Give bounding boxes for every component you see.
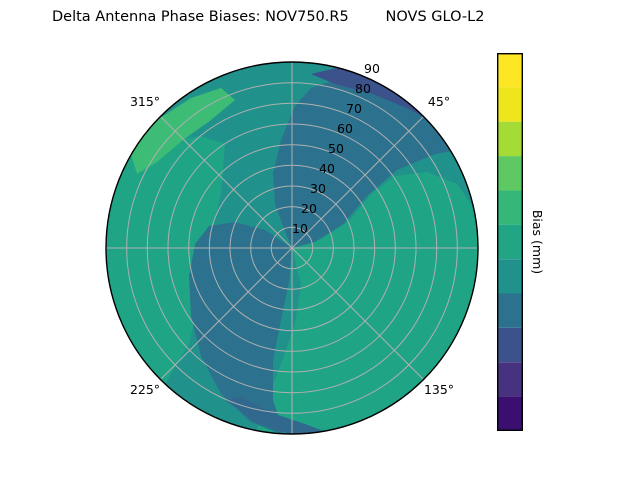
radial-label-70: 70	[346, 101, 362, 116]
colorbar-band-5	[497, 225, 523, 259]
page-title: Delta Antenna Phase Biases: NOV750.R5 NO…	[52, 9, 484, 25]
radial-label-50: 50	[328, 141, 344, 156]
colorbar-band-4	[497, 259, 523, 293]
colorbar-svg: 4 2 0 −2 −4	[497, 53, 523, 431]
colorbar-band-0	[497, 397, 523, 431]
radial-label-30: 30	[310, 181, 326, 196]
radial-label-10: 10	[292, 221, 308, 236]
colorbar[interactable]: 4 2 0 −2 −4	[497, 53, 523, 431]
colorbar-axis-label: Bias (mm)	[525, 53, 551, 431]
colorbar-band-10	[497, 53, 523, 87]
angular-label-315: 315°	[130, 94, 160, 109]
matplotlib-figure: Delta Antenna Phase Biases: NOV750.R5 NO…	[0, 0, 640, 480]
radial-label-90: 90	[364, 61, 380, 76]
radial-label-40: 40	[319, 161, 335, 176]
polar-contour-axes[interactable]: 0° 45° 90° 135° 180° 225° 270° 315° 10 2…	[105, 44, 479, 436]
radial-label-80: 80	[355, 81, 371, 96]
angular-label-135: 135°	[424, 382, 454, 397]
radial-label-20: 20	[301, 201, 317, 216]
colorbar-band-7	[497, 156, 523, 190]
polar-plot-svg: 0° 45° 90° 135° 180° 225° 270° 315° 10 2…	[105, 44, 479, 436]
colorbar-band-3	[497, 294, 523, 328]
radial-label-60: 60	[337, 121, 353, 136]
angular-gridlines	[106, 62, 478, 434]
colorbar-band-9	[497, 87, 523, 121]
colorbar-band-8	[497, 122, 523, 156]
angular-label-225: 225°	[130, 382, 160, 397]
colorbar-band-2	[497, 328, 523, 362]
colorbar-bands	[497, 53, 523, 431]
colorbar-band-6	[497, 191, 523, 225]
colorbar-band-1	[497, 362, 523, 396]
angular-label-45: 45°	[428, 94, 450, 109]
